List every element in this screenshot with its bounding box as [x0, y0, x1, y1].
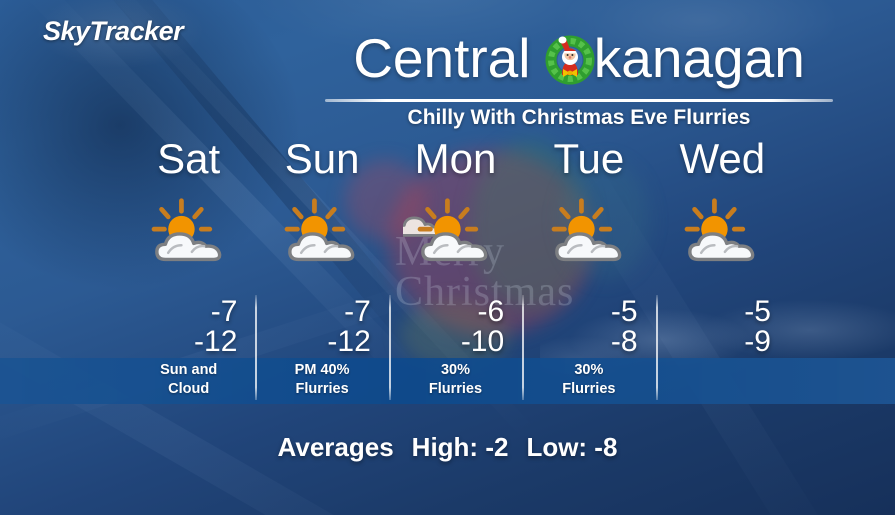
- forecast-day-column: Sat-7-12Sun andCloud: [122, 135, 255, 410]
- condition-line-1: 30%: [522, 361, 655, 380]
- condition-line-1: Sun and: [122, 361, 255, 380]
- day-label: Tue: [522, 135, 655, 183]
- averages-row: AveragesHigh: -2Low: -8: [0, 432, 895, 463]
- temperature-pair: -5-8: [522, 297, 655, 357]
- page-title: Central: [325, 28, 833, 88]
- title-divider: [325, 99, 833, 102]
- condition-text: Sun andCloud: [122, 361, 255, 399]
- temperature-pair: -7-12: [122, 297, 255, 357]
- temperature-low: -10: [389, 327, 504, 357]
- temperature-low: -12: [122, 327, 237, 357]
- subtitle: Chilly With Christmas Eve Flurries: [325, 106, 833, 130]
- day-label: Sun: [255, 135, 388, 183]
- temperature-high: -5: [656, 297, 771, 327]
- temperature-pair: -7-12: [255, 297, 388, 357]
- condition-text: 30%Flurries: [522, 361, 655, 399]
- forecast-day-column: Wed-5-9: [656, 135, 789, 410]
- sun-behind-clouds-icon: [389, 177, 522, 287]
- forecast-columns: Sat-7-12Sun andCloudSun-7-12PM 40%Flurri…: [122, 135, 895, 410]
- forecast-day-column: Sun-7-12PM 40%Flurries: [255, 135, 388, 410]
- temperature-high: -7: [255, 297, 370, 327]
- average-high: High: -2: [412, 432, 509, 462]
- condition-line-2: Flurries: [522, 380, 655, 399]
- headline-block: Central: [325, 28, 833, 88]
- sun-behind-cloud-icon: [656, 177, 789, 287]
- condition-line-2: Flurries: [255, 380, 388, 399]
- sun-behind-cloud-icon: [255, 177, 388, 287]
- day-label: Wed: [656, 135, 789, 183]
- temperature-low: -8: [522, 327, 637, 357]
- averages-label: Averages: [278, 432, 394, 462]
- day-label: Sat: [122, 135, 255, 183]
- temperature-high: -6: [389, 297, 504, 327]
- santa-wreath-icon: [545, 35, 595, 85]
- condition-line-2: Flurries: [389, 380, 522, 399]
- forecast-day-column: Tue-5-830%Flurries: [522, 135, 655, 410]
- sun-behind-cloud-icon: [522, 177, 655, 287]
- condition-line-2: Cloud: [122, 380, 255, 399]
- temperature-pair: -6-10: [389, 297, 522, 357]
- temperature-high: -5: [522, 297, 637, 327]
- temperature-pair: -5-9: [656, 297, 789, 357]
- condition-text: 30%Flurries: [389, 361, 522, 399]
- forecast-day-column: Mon-6-1030%Flurries: [389, 135, 522, 410]
- page-title-after: kanagan: [594, 27, 805, 89]
- temperature-high: -7: [122, 297, 237, 327]
- skytracker-logo: SkyTracker: [43, 16, 183, 47]
- temperature-low: -12: [255, 327, 370, 357]
- temperature-low: -9: [656, 327, 771, 357]
- condition-line-1: PM 40%: [255, 361, 388, 380]
- average-low: Low: -8: [526, 432, 617, 462]
- sun-behind-cloud-icon: [122, 177, 255, 287]
- weather-forecast-graphic: Merry Christmas SkyTracker Central: [0, 0, 895, 515]
- condition-line-1: 30%: [389, 361, 522, 380]
- day-label: Mon: [389, 135, 522, 183]
- condition-text: PM 40%Flurries: [255, 361, 388, 399]
- page-title-before: Central: [353, 27, 546, 89]
